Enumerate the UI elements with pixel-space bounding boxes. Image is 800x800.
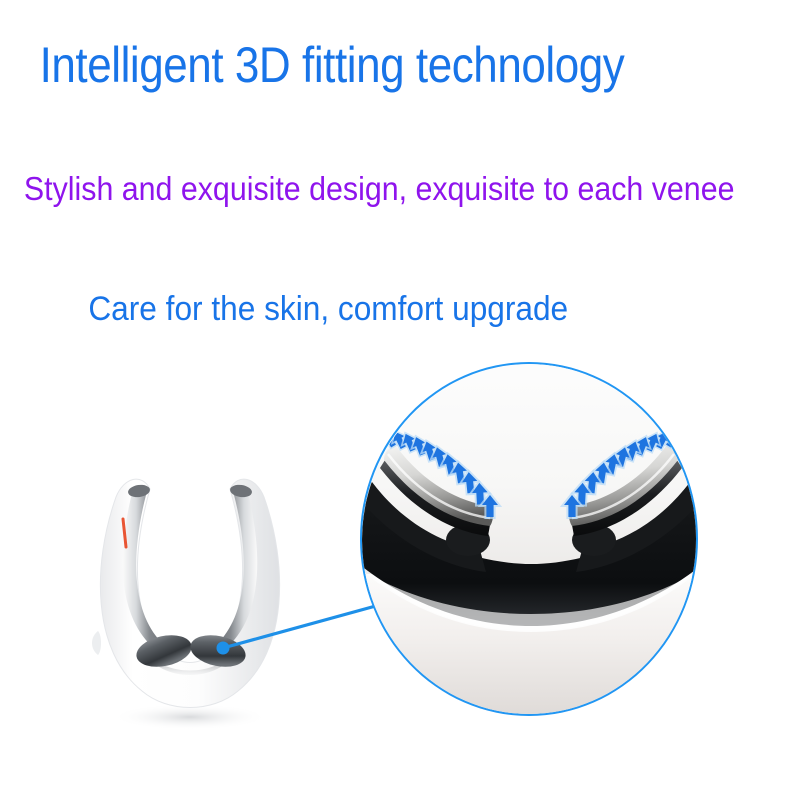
magnified-detail-view xyxy=(362,364,698,716)
page-title: Intelligent 3D fitting technology xyxy=(0,36,704,94)
magnifier-circle xyxy=(360,362,698,716)
side-knob xyxy=(92,631,101,655)
subtitle-text: Stylish and exquisite design, exquisite … xyxy=(0,170,736,208)
product-photo xyxy=(70,455,310,730)
neck-massager-illustration xyxy=(70,455,310,730)
tagline-text: Care for the skin, comfort upgrade xyxy=(0,290,744,329)
product-banner: Intelligent 3D fitting technology Stylis… xyxy=(0,0,800,800)
